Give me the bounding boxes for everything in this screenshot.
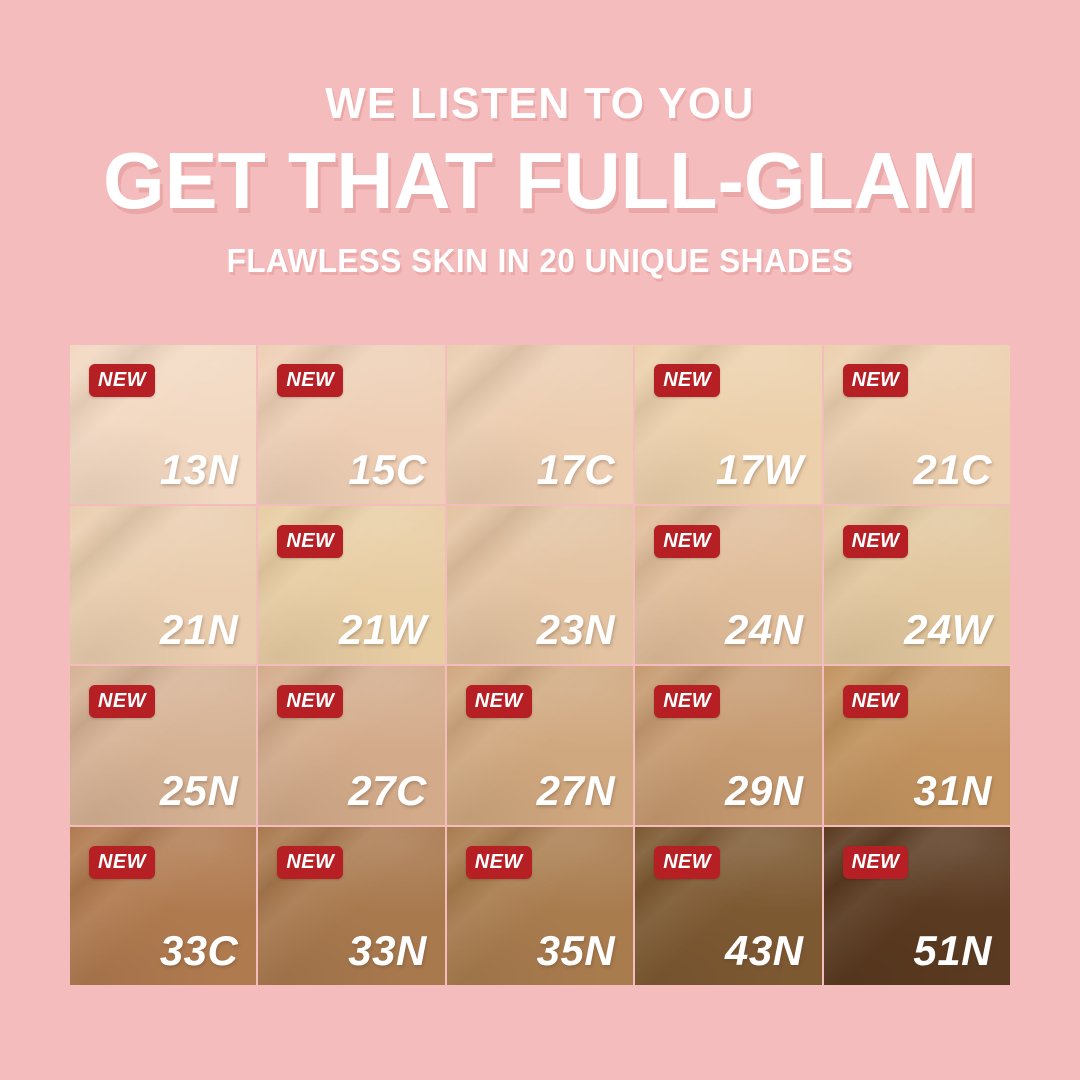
- new-badge: NEW: [843, 685, 909, 718]
- shade-swatch-grid: NEW13NNEW15C17CNEW17WNEW21C21NNEW21W23NN…: [70, 345, 1010, 985]
- poster-header: WE LISTEN TO YOU GET THAT FULL-GLAM FLAW…: [0, 82, 1080, 277]
- new-badge: NEW: [277, 685, 343, 718]
- new-badge: NEW: [466, 685, 532, 718]
- shade-swatch[interactable]: NEW27C: [258, 666, 444, 825]
- shade-code-label: 33N: [348, 930, 427, 972]
- shade-code-label: 29N: [725, 770, 804, 812]
- shade-code-label: 21W: [339, 609, 427, 651]
- shade-code-label: 15C: [348, 449, 427, 491]
- subtitle-text: FLAWLESS SKIN IN 20 UNIQUE SHADES: [27, 244, 1053, 277]
- shade-swatch[interactable]: NEW17W: [635, 345, 821, 504]
- shade-code-label: 27N: [537, 770, 616, 812]
- shade-swatch[interactable]: NEW21W: [258, 506, 444, 665]
- shade-code-label: 51N: [913, 930, 992, 972]
- shade-code-label: 13N: [160, 449, 239, 491]
- shade-code-label: 23N: [537, 609, 616, 651]
- new-badge: NEW: [89, 364, 155, 397]
- new-badge: NEW: [843, 846, 909, 879]
- shade-swatch[interactable]: 23N: [447, 506, 633, 665]
- shade-code-label: 24N: [725, 609, 804, 651]
- new-badge: NEW: [277, 846, 343, 879]
- new-badge: NEW: [89, 685, 155, 718]
- new-badge: NEW: [843, 364, 909, 397]
- shade-swatch[interactable]: NEW29N: [635, 666, 821, 825]
- shade-swatch[interactable]: NEW24W: [824, 506, 1010, 665]
- shade-code-label: 27C: [348, 770, 427, 812]
- shade-swatch[interactable]: NEW33N: [258, 827, 444, 986]
- eyebrow-text: WE LISTEN TO YOU: [16, 82, 1064, 126]
- shade-code-label: 33C: [160, 930, 239, 972]
- new-badge: NEW: [654, 846, 720, 879]
- new-badge: NEW: [89, 846, 155, 879]
- shade-swatch[interactable]: NEW43N: [635, 827, 821, 986]
- shade-swatch[interactable]: 17C: [447, 345, 633, 504]
- shade-code-label: 43N: [725, 930, 804, 972]
- shade-swatch[interactable]: NEW33C: [70, 827, 256, 986]
- new-badge: NEW: [654, 525, 720, 558]
- shade-code-label: 21N: [160, 609, 239, 651]
- shade-code-label: 24W: [904, 609, 992, 651]
- shade-swatch[interactable]: NEW21C: [824, 345, 1010, 504]
- shade-swatch[interactable]: NEW27N: [447, 666, 633, 825]
- shade-swatch[interactable]: NEW24N: [635, 506, 821, 665]
- shade-swatch[interactable]: 21N: [70, 506, 256, 665]
- shade-code-label: 17C: [537, 449, 616, 491]
- shade-code-label: 17W: [716, 449, 804, 491]
- shade-range-poster: WE LISTEN TO YOU GET THAT FULL-GLAM FLAW…: [0, 0, 1080, 1080]
- shade-swatch[interactable]: NEW15C: [258, 345, 444, 504]
- shade-code-label: 25N: [160, 770, 239, 812]
- shade-swatch[interactable]: NEW31N: [824, 666, 1010, 825]
- shade-swatch[interactable]: NEW25N: [70, 666, 256, 825]
- shade-code-label: 35N: [537, 930, 616, 972]
- new-badge: NEW: [654, 685, 720, 718]
- shade-swatch[interactable]: NEW35N: [447, 827, 633, 986]
- new-badge: NEW: [277, 364, 343, 397]
- shade-code-label: 21C: [913, 449, 992, 491]
- new-badge: NEW: [843, 525, 909, 558]
- shade-swatch[interactable]: NEW51N: [824, 827, 1010, 986]
- new-badge: NEW: [654, 364, 720, 397]
- page-title: GET THAT FULL-GLAM: [5, 140, 1074, 222]
- new-badge: NEW: [277, 525, 343, 558]
- shade-swatch[interactable]: NEW13N: [70, 345, 256, 504]
- shade-code-label: 31N: [913, 770, 992, 812]
- new-badge: NEW: [466, 846, 532, 879]
